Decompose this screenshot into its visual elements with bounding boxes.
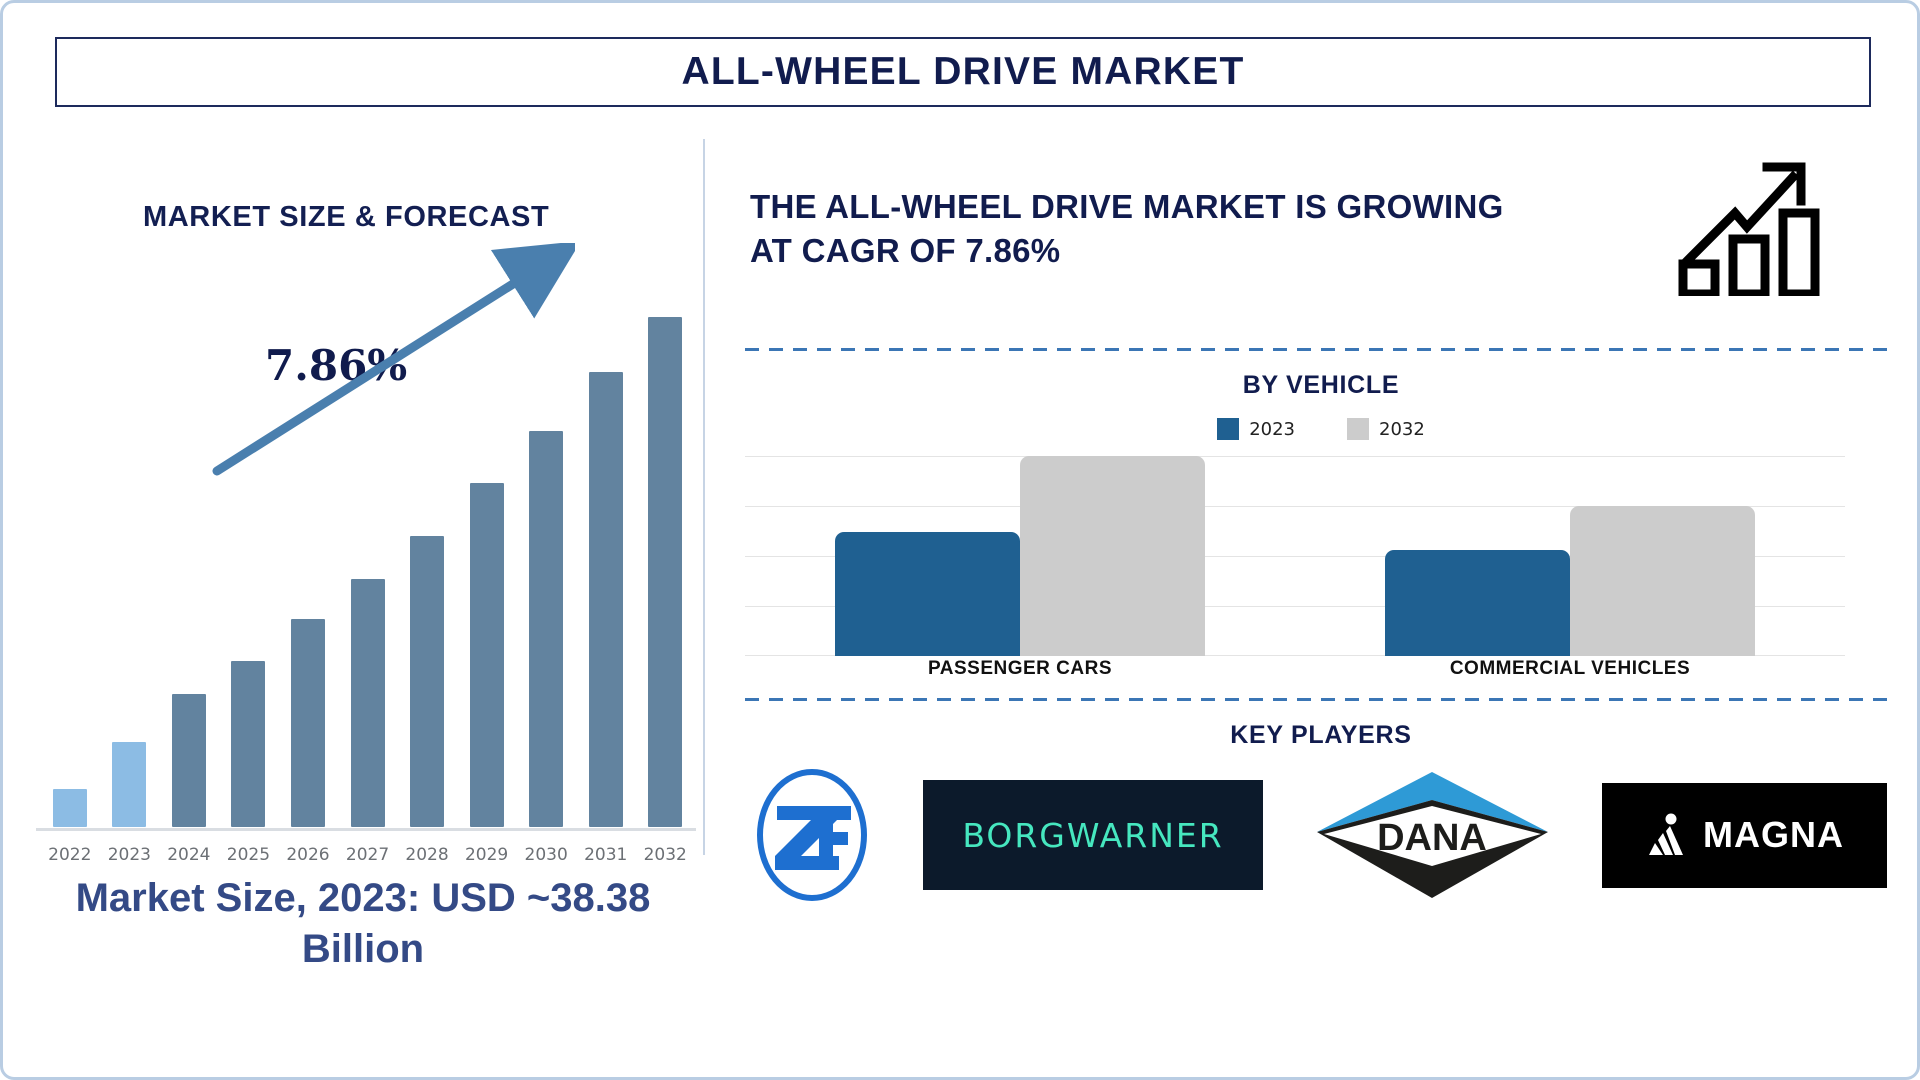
bar-2025 bbox=[231, 661, 265, 827]
legend-swatch-2032 bbox=[1347, 418, 1369, 440]
market-size-bars bbox=[40, 317, 695, 827]
bar-2026 bbox=[291, 619, 325, 827]
bar-2028 bbox=[410, 536, 444, 827]
legend-label-2032: 2032 bbox=[1379, 419, 1425, 440]
bar-cell bbox=[100, 317, 160, 827]
svg-text:DANA: DANA bbox=[1377, 817, 1487, 859]
logo-zf[interactable] bbox=[753, 768, 871, 903]
bar-cell bbox=[40, 317, 100, 827]
x-tick-2031: 2031 bbox=[576, 845, 636, 865]
bar-cell bbox=[457, 317, 517, 827]
logo-borgwarner[interactable]: BORGWARNER bbox=[923, 780, 1263, 890]
panel-divider bbox=[703, 139, 705, 855]
by-vehicle-legend: 2023 2032 bbox=[745, 418, 1897, 440]
legend-item-2023: 2023 bbox=[1217, 418, 1295, 440]
legend-item-2032: 2032 bbox=[1347, 418, 1425, 440]
magna-logo-box: MAGNA bbox=[1602, 783, 1887, 888]
bar-cell bbox=[397, 317, 457, 827]
by-vehicle-chart: PASSENGER CARS COMMERCIAL VEHICLES bbox=[745, 456, 1845, 656]
borgwarner-logo-text: BORGWARNER bbox=[962, 816, 1223, 855]
logo-dana[interactable]: DANA bbox=[1315, 770, 1550, 900]
magna-logo-text: MAGNA bbox=[1703, 814, 1844, 856]
x-tick-2032: 2032 bbox=[635, 845, 695, 865]
bar-commercial-vehicles-2023 bbox=[1385, 550, 1570, 656]
market-size-bar-chart: 2022 2023 2024 2025 2026 2027 2028 2029 … bbox=[30, 308, 700, 853]
group-commercial-vehicles: COMMERCIAL VEHICLES bbox=[1295, 456, 1845, 656]
market-size-value: Market Size, 2023: USD ~38.38 Billion bbox=[25, 873, 701, 975]
divider-bottom bbox=[745, 698, 1897, 701]
bar-2027 bbox=[351, 579, 385, 827]
bar-2029 bbox=[470, 483, 504, 827]
x-tick-2023: 2023 bbox=[100, 845, 160, 865]
bar-passenger-cars-2023 bbox=[835, 532, 1020, 656]
x-tick-2027: 2027 bbox=[338, 845, 398, 865]
category-label-passenger-cars: PASSENGER CARS bbox=[745, 658, 1295, 680]
bar-passenger-cars-2032 bbox=[1020, 456, 1205, 656]
overview-panel: THE ALL-WHEEL DRIVE MARKET IS GROWING AT… bbox=[745, 143, 1897, 1061]
page-title: ALL-WHEEL DRIVE MARKET bbox=[682, 50, 1245, 94]
bar-2030 bbox=[529, 431, 563, 827]
x-tick-2025: 2025 bbox=[219, 845, 279, 865]
x-tick-2028: 2028 bbox=[397, 845, 457, 865]
market-headline: THE ALL-WHEEL DRIVE MARKET IS GROWING AT… bbox=[750, 185, 1540, 273]
chart-baseline bbox=[36, 828, 696, 831]
zf-logo-icon bbox=[753, 768, 871, 903]
bar-commercial-vehicles-2032 bbox=[1570, 506, 1755, 656]
dana-logo-box: DANA bbox=[1315, 770, 1550, 900]
growth-bar-chart-icon bbox=[1675, 151, 1825, 296]
key-players-title: KEY PLAYERS bbox=[745, 721, 1897, 750]
divider-top bbox=[745, 348, 1897, 351]
borgwarner-logo-box: BORGWARNER bbox=[923, 780, 1263, 890]
category-label-commercial-vehicles: COMMERCIAL VEHICLES bbox=[1295, 658, 1845, 680]
legend-label-2023: 2023 bbox=[1249, 419, 1295, 440]
logo-magna[interactable]: MAGNA bbox=[1602, 783, 1887, 888]
bar-cell bbox=[635, 317, 695, 827]
bar-2032 bbox=[648, 317, 682, 827]
page-title-box: ALL-WHEEL DRIVE MARKET bbox=[55, 37, 1871, 107]
x-tick-2024: 2024 bbox=[159, 845, 219, 865]
key-players-logos: BORGWARNER DANA bbox=[735, 765, 1905, 905]
infographic-page: ALL-WHEEL DRIVE MARKET MARKET SIZE & FOR… bbox=[0, 0, 1920, 1080]
bar-cell bbox=[516, 317, 576, 827]
group-passenger-cars: PASSENGER CARS bbox=[745, 456, 1295, 656]
market-size-panel: MARKET SIZE & FORECAST 7.86% bbox=[25, 143, 705, 1061]
bar-2031 bbox=[589, 372, 623, 827]
bar-2023 bbox=[112, 742, 146, 827]
bar-cell bbox=[576, 317, 636, 827]
by-vehicle-groups: PASSENGER CARS COMMERCIAL VEHICLES bbox=[745, 456, 1845, 656]
market-size-heading: MARKET SIZE & FORECAST bbox=[143, 201, 549, 234]
bar-cell bbox=[159, 317, 219, 827]
bar-2022 bbox=[53, 789, 87, 827]
bar-cell bbox=[278, 317, 338, 827]
market-size-year-axis: 2022 2023 2024 2025 2026 2027 2028 2029 … bbox=[40, 845, 695, 865]
by-vehicle-title: BY VEHICLE bbox=[745, 371, 1897, 400]
x-tick-2030: 2030 bbox=[516, 845, 576, 865]
bar-2024 bbox=[172, 694, 206, 827]
magna-mark-icon bbox=[1645, 813, 1691, 857]
bar-cell bbox=[219, 317, 279, 827]
bar-cell bbox=[338, 317, 398, 827]
legend-swatch-2023 bbox=[1217, 418, 1239, 440]
x-tick-2022: 2022 bbox=[40, 845, 100, 865]
x-tick-2026: 2026 bbox=[278, 845, 338, 865]
x-tick-2029: 2029 bbox=[457, 845, 517, 865]
dana-logo-icon: DANA bbox=[1315, 770, 1550, 900]
